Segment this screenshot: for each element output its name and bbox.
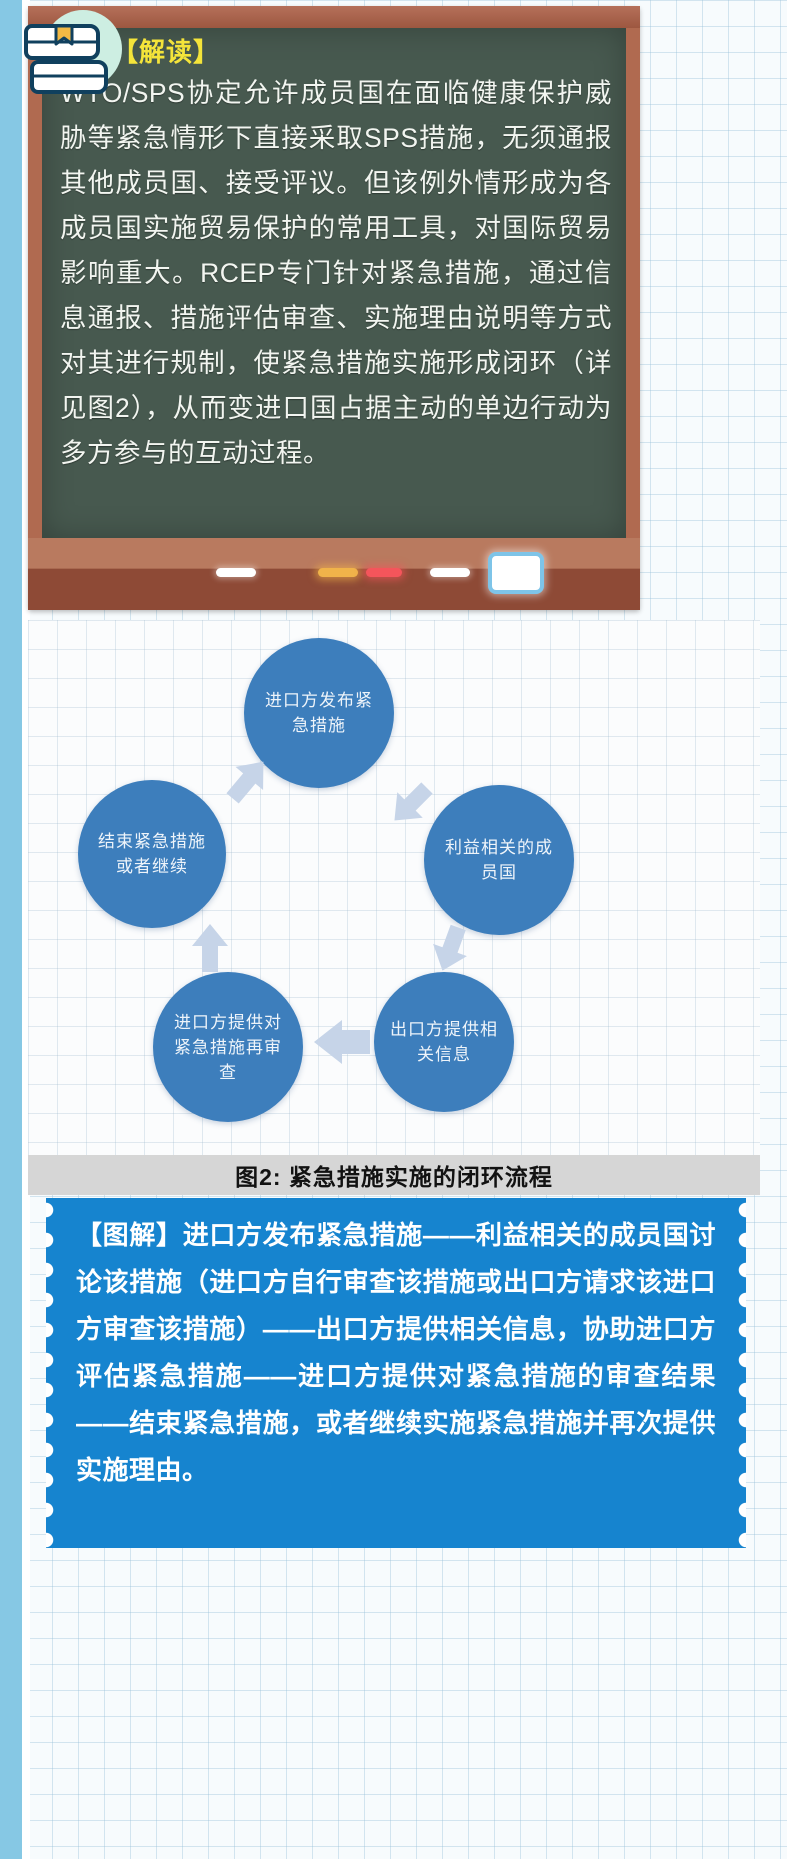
blackboard: 【解读】 WTO/SPS协定允许成员国在面临健康保护威胁等紧急情形下直接采取SP… <box>28 6 640 610</box>
flow-node-2-label: 利益相关的成员国 <box>424 835 574 885</box>
flow-node-5: 结束紧急措施或者继续 <box>78 780 226 928</box>
arrow-node2-to-node3-icon <box>420 920 480 980</box>
blackboard-surface: 【解读】 WTO/SPS协定允许成员国在面临健康保护威胁等紧急情形下直接采取SP… <box>42 28 626 538</box>
flow-node-3-label: 出口方提供相关信息 <box>374 1017 514 1067</box>
flow-node-2: 利益相关的成员国 <box>424 785 574 935</box>
chalk-white-2-icon <box>430 568 470 577</box>
arrow-node4-to-node5-icon <box>180 916 240 980</box>
page-background: 【解读】 WTO/SPS协定允许成员国在面临健康保护威胁等紧急情形下直接采取SP… <box>0 0 787 1859</box>
chalk-tray <box>28 562 640 588</box>
left-blue-spine <box>0 0 22 1859</box>
chalk-white-1-icon <box>216 568 256 577</box>
chalk-yellow-icon <box>318 568 358 577</box>
figure-caption: 图2: 紧急措施实施的闭环流程 <box>28 1155 760 1195</box>
eraser-icon <box>488 552 544 594</box>
arrow-node1-to-node2-icon <box>380 775 440 835</box>
blackboard-body-text: WTO/SPS协定允许成员国在面临健康保护威胁等紧急情形下直接采取SPS措施，无… <box>60 71 612 476</box>
blackboard-ledge <box>28 538 640 610</box>
flow-node-3: 出口方提供相关信息 <box>374 972 514 1112</box>
flow-diagram: 进口方发布紧急措施 利益相关的成员国 出口方提供相关信息 进口方提供对紧急措施再… <box>28 620 760 1158</box>
explanation-panel: 【图解】进口方发布紧急措施——利益相关的成员国讨论该措施（进口方自行审查该措施或… <box>46 1198 746 1548</box>
stacked-books-icon <box>18 4 118 104</box>
chalk-red-icon <box>366 568 402 577</box>
arrow-node3-to-node4-icon <box>306 1010 376 1074</box>
flow-node-5-label: 结束紧急措施或者继续 <box>78 829 226 879</box>
blackboard-title: 【解读】 <box>112 32 626 69</box>
flow-node-1-label: 进口方发布紧急措施 <box>244 688 394 738</box>
explanation-text: 【图解】进口方发布紧急措施——利益相关的成员国讨论该措施（进口方自行审查该措施或… <box>76 1212 716 1494</box>
flow-node-4: 进口方提供对紧急措施再审查 <box>153 972 303 1122</box>
arrow-node5-to-node1-icon <box>218 750 278 810</box>
flow-node-4-label: 进口方提供对紧急措施再审查 <box>153 1010 303 1085</box>
